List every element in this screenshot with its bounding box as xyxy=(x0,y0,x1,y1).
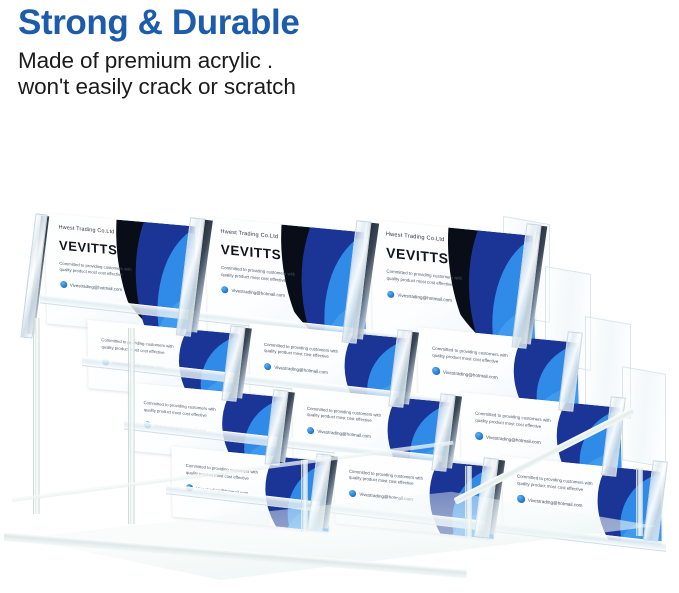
subtitle-line-1: Made of premium acrylic . xyxy=(18,48,658,74)
card-brand: VEVITTS xyxy=(221,242,319,266)
card-brand: VEVITTS xyxy=(59,237,152,260)
acrylic-back-panel xyxy=(622,366,666,468)
email-icon xyxy=(264,362,271,370)
email-icon xyxy=(517,495,525,503)
email-icon xyxy=(475,432,483,440)
page-title: Strong & Durable xyxy=(18,2,658,44)
email-icon xyxy=(349,489,356,497)
email-icon xyxy=(432,367,440,375)
subtitle-line-2: won't easily crack or scratch xyxy=(18,74,658,100)
card-brand: VEVITTS xyxy=(386,245,487,271)
card-text: Hwest Trading Co.Ltd VEVITTS Committed t… xyxy=(220,229,319,302)
email-icon xyxy=(221,286,228,294)
product-image: Hwest Trading Co.Ltd VEVITTS Committed t… xyxy=(0,198,679,593)
email-icon xyxy=(387,290,395,298)
card-text: Hwest Trading Co.Ltd VEVITTS Committed t… xyxy=(59,224,153,296)
promo-text-block: Strong & Durable Made of premium acrylic… xyxy=(18,2,658,100)
support-post xyxy=(33,318,40,514)
email-icon xyxy=(307,426,314,434)
email-icon xyxy=(60,281,67,289)
card-text: Hwest Trading Co.Ltd VEVITTS Committed t… xyxy=(386,232,488,308)
support-post xyxy=(128,328,135,524)
page-subtitle: Made of premium acrylic . won't easily c… xyxy=(18,48,658,100)
